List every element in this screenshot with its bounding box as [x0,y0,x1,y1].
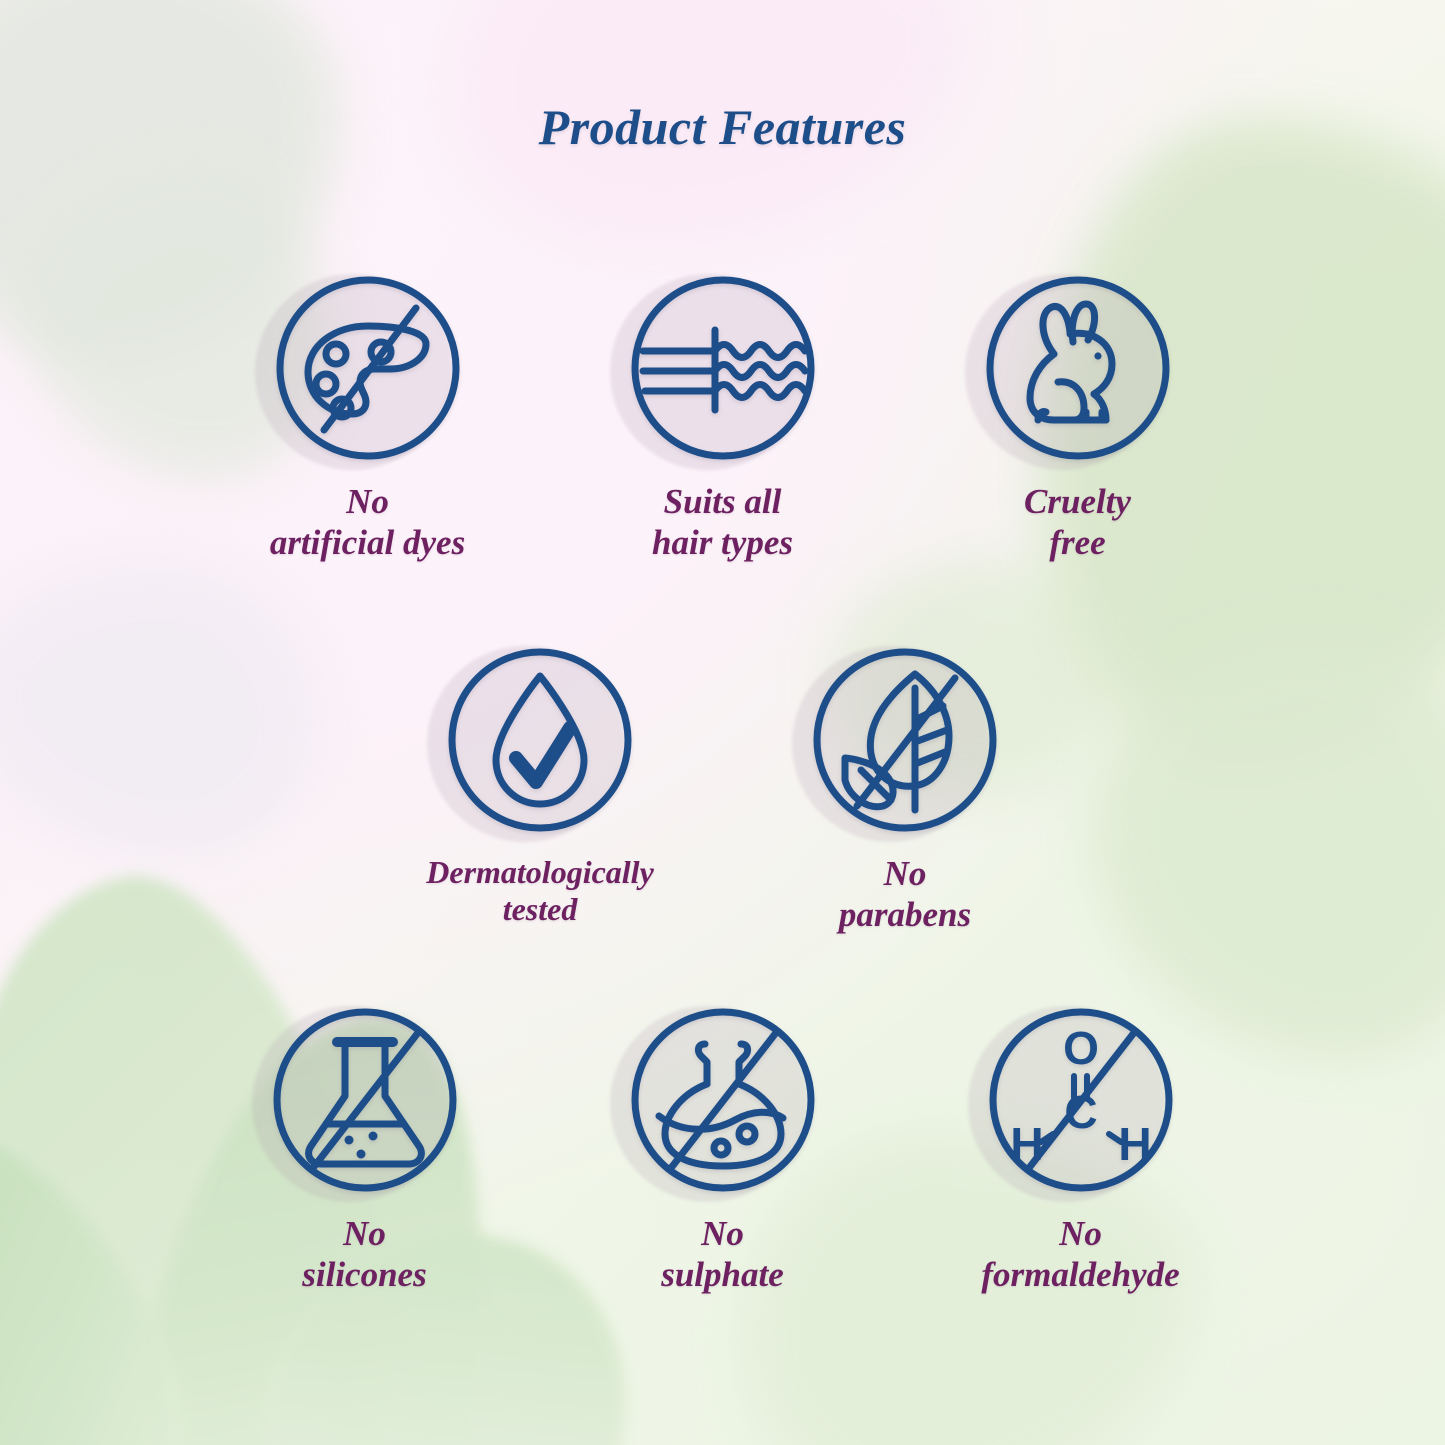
feature-row-2: Dermatologically tested [0,640,1445,935]
no-silicones-icon [265,1000,465,1200]
no-parabens-icon [805,640,1005,840]
feature-suits-all-hair-types[interactable]: Suits all hair types [618,268,828,563]
feature-label: No formaldehyde [981,1214,1179,1295]
suits-all-hair-types-icon [623,268,823,468]
infographic-canvas: Product Features No artificial dyes [0,0,1445,1445]
feature-no-formaldehyde[interactable]: O C H H No formaldehyde [976,1000,1186,1295]
feature-label: No silicones [302,1214,426,1295]
feature-label: No sulphate [661,1214,784,1295]
feature-cruelty-free[interactable]: Cruelty free [973,268,1183,563]
feature-label: Cruelty free [1024,482,1131,563]
page-title: Product Features [0,98,1445,156]
feature-no-parabens[interactable]: No parabens [800,640,1010,935]
feature-dermatologically-tested[interactable]: Dermatologically tested [435,640,645,935]
molecule-hydrogen-right-label: H [1118,1118,1151,1170]
molecule-oxygen-label: O [1063,1022,1099,1074]
cruelty-free-icon [978,268,1178,468]
feature-row-3: No silicones [0,1000,1445,1295]
feature-label: No artificial dyes [270,482,465,563]
molecule-hydrogen-left-label: H [1010,1118,1043,1170]
feature-no-silicones[interactable]: No silicones [260,1000,470,1295]
feature-no-artificial-dyes[interactable]: No artificial dyes [263,268,473,563]
feature-label: Dermatologically tested [426,854,654,928]
feature-label: No parabens [839,854,971,935]
feature-row-1: No artificial dyes Suits all hair types [0,268,1445,563]
dermatologically-tested-icon [440,640,640,840]
no-sulphate-icon [623,1000,823,1200]
no-formaldehyde-icon: O C H H [981,1000,1181,1200]
feature-label: Suits all hair types [652,482,793,563]
no-artificial-dyes-icon [268,268,468,468]
feature-no-sulphate[interactable]: No sulphate [618,1000,828,1295]
